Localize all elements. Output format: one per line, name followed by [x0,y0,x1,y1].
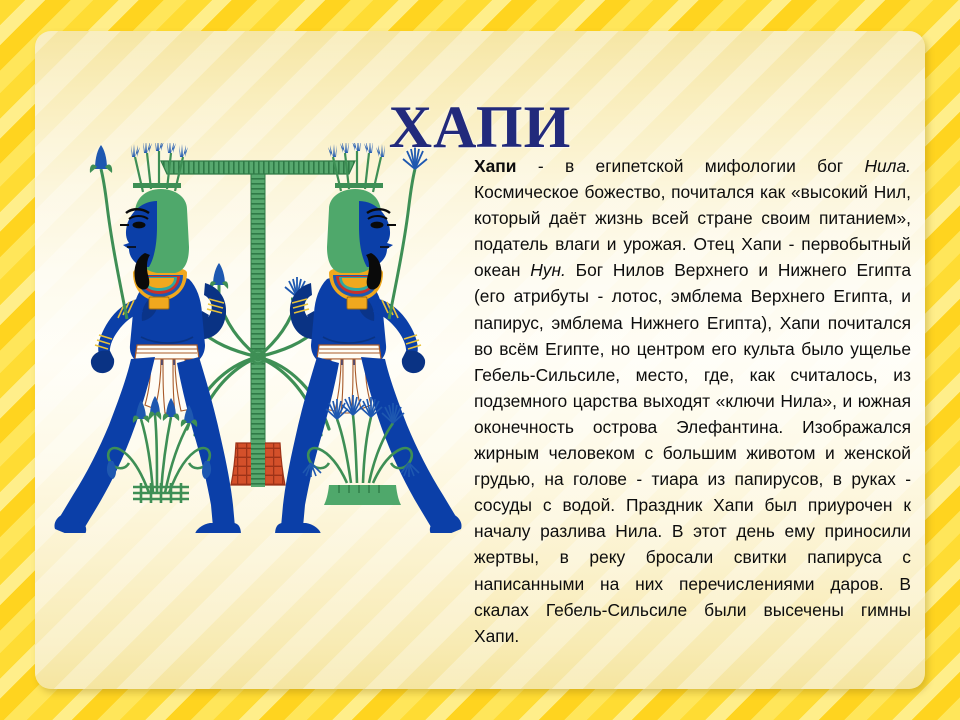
article-part-1: в египетской мифологии бог [544,156,865,176]
article-part-3: Бог Нилов Верхнего и Нижнего Египта (его… [474,260,911,645]
papyrus-stem-right [389,147,427,319]
term-nun: Нун. [530,260,566,280]
lead-dash [516,156,537,176]
content-card: ХАПИ [35,31,925,689]
lotus-stem-left [90,145,127,319]
lead-term: Хапи [474,156,516,176]
hapi-illustration [53,143,463,533]
term-nile: Нила. [864,156,911,176]
slide-root: ХАПИ [0,0,960,720]
article-text: Хапи - в египетской мифологии бог Нила. … [474,153,911,649]
page-title: ХАПИ [35,95,925,159]
